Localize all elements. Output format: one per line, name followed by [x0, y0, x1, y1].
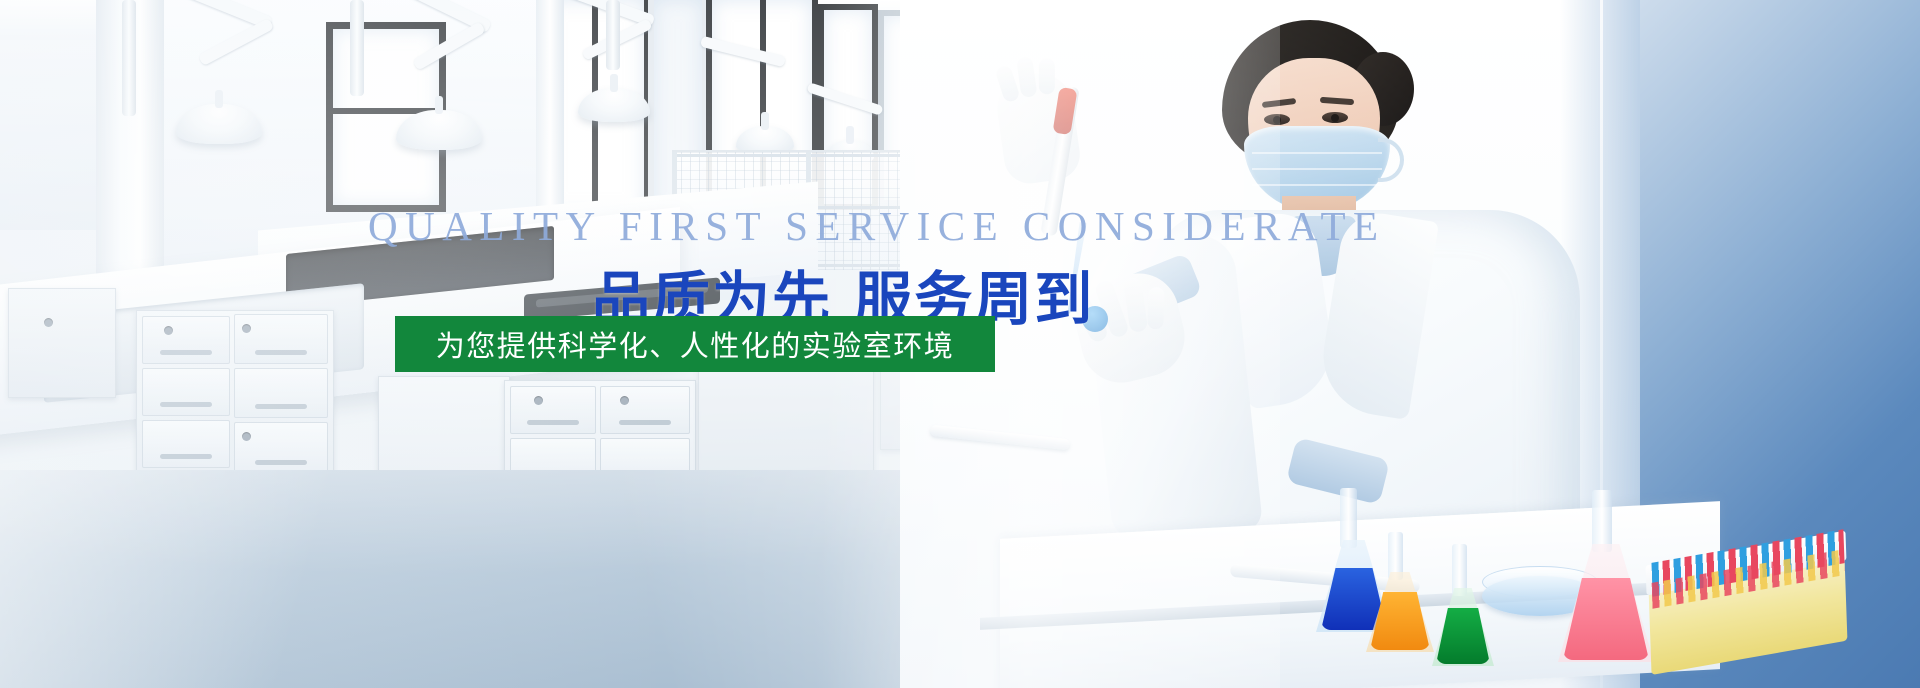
subtitle-text: 为您提供科学化、人性化的实验室环境	[436, 323, 955, 365]
subtitle-bar: 为您提供科学化、人性化的实验室环境	[395, 316, 995, 372]
english-tagline: QUALITY FIRST SERVICE CONSIDERATE	[368, 202, 1386, 250]
text-overlay: QUALITY FIRST SERVICE CONSIDERATE 品质为先 服…	[0, 0, 1920, 688]
hero-banner: QUALITY FIRST SERVICE CONSIDERATE 品质为先 服…	[0, 0, 1920, 688]
